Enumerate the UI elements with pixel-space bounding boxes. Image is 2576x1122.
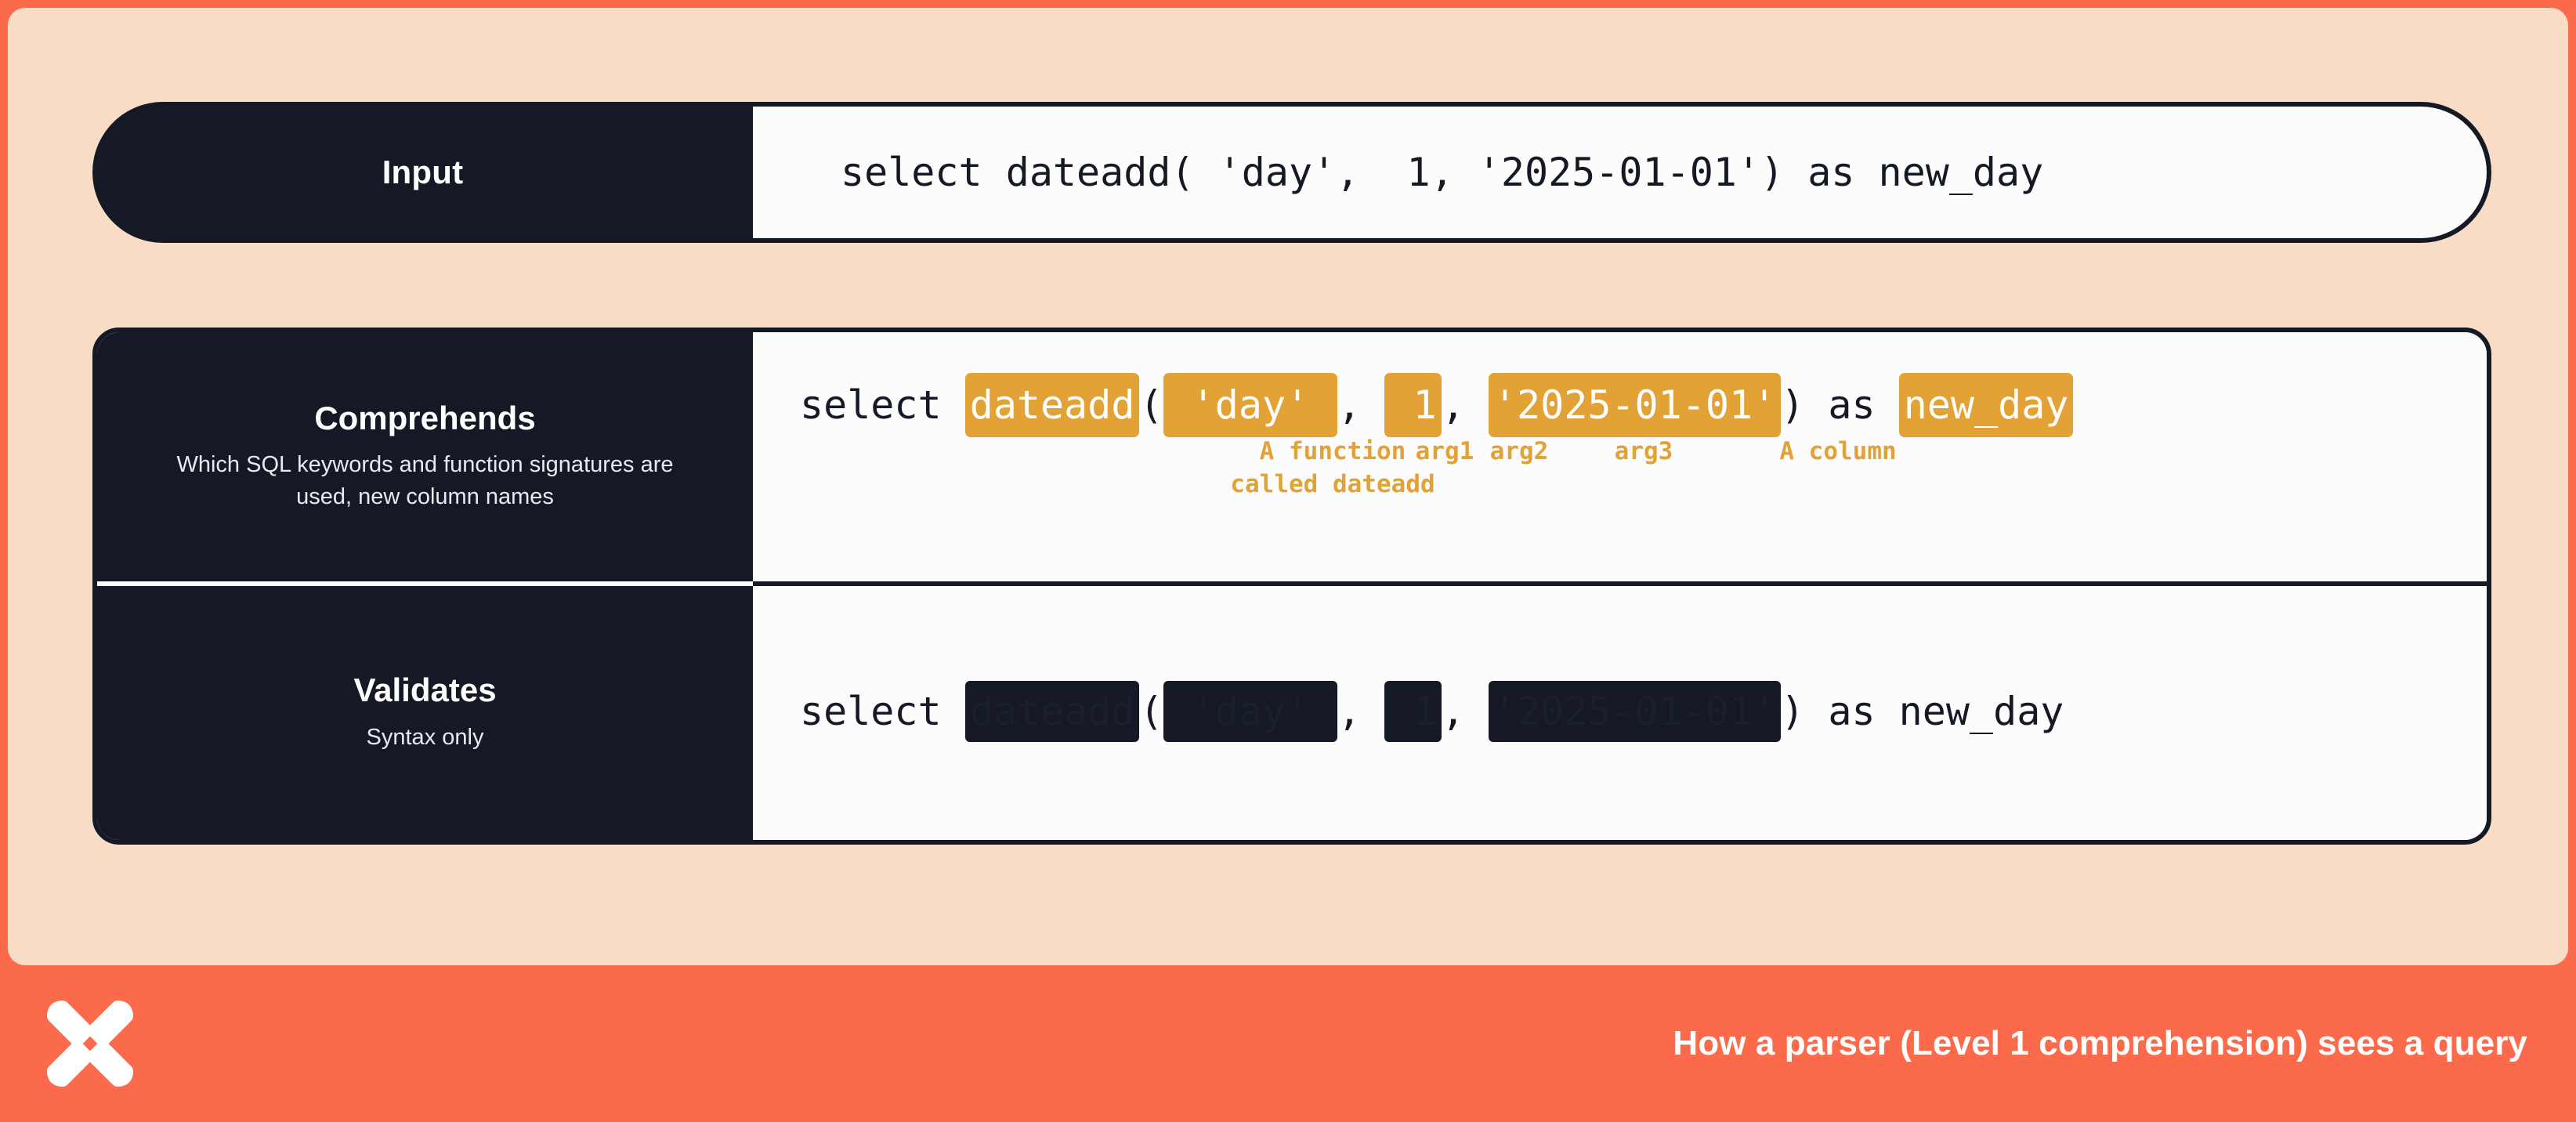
comprehends-label-cell: Comprehends Which SQL keywords and funct…	[97, 332, 753, 581]
comprehends-title: Comprehends	[314, 400, 535, 436]
peach-panel: Input select dateadd( 'day', 1, '2025-01…	[8, 8, 2568, 965]
x-mark-logo	[47, 1001, 133, 1087]
annotation-4: A column	[1779, 436, 1896, 469]
validates-token-8: )	[1781, 689, 1804, 734]
annotation-3: arg3	[1615, 436, 1673, 469]
input-row: Input select dateadd( 'day', 1, '2025-01…	[92, 102, 2491, 243]
footer-caption: How a parser (Level 1 comprehension) see…	[1673, 1024, 2527, 1063]
validates-code-cell: select dateadd( 'day' , 1, '2025-01-01')…	[753, 586, 2487, 840]
comprehends-token-2: (	[1139, 382, 1163, 428]
comprehends-token-0: select	[800, 382, 965, 428]
comprehends-code-stack: select dateadd( 'day' , 1, '2025-01-01')…	[800, 385, 2487, 528]
validates-code-stack: select dateadd( 'day' , 1, '2025-01-01')…	[800, 692, 2487, 734]
annotation-2: arg2	[1490, 436, 1549, 469]
validates-token-6: ,	[1442, 689, 1489, 734]
comprehends-code-cell: select dateadd( 'day' , 1, '2025-01-01')…	[753, 332, 2487, 581]
comprehends-subtitle: Which SQL keywords and function signatur…	[151, 449, 700, 513]
validates-title: Validates	[353, 672, 496, 708]
footer-bar: How a parser (Level 1 comprehension) see…	[0, 965, 2576, 1122]
validates-token-5: 1	[1384, 681, 1441, 742]
validates-label-cell: Validates Syntax only	[97, 586, 753, 840]
annotation-1: arg1	[1416, 436, 1474, 469]
validates-token-1: dateadd	[965, 681, 1140, 742]
comprehends-token-5: 1	[1384, 373, 1441, 437]
comprehends-token-3: 'day'	[1163, 373, 1338, 437]
annotation-0: A function called dateadd	[1230, 436, 1435, 501]
input-row-title: Input	[382, 156, 464, 189]
comprehends-token-6: ,	[1442, 382, 1489, 428]
comprehends-token-9: as	[1804, 382, 1898, 428]
comprehends-token-8: )	[1781, 382, 1804, 428]
input-row-code-cell: select dateadd( 'day', 1, '2025-01-01') …	[753, 102, 2491, 243]
validates-subtitle: Syntax only	[367, 722, 484, 754]
comprehends-code-line: select dateadd( 'day' , 1, '2025-01-01')…	[800, 385, 2487, 425]
comprehends-annotation-row: A function called dateaddarg1arg2arg3A c…	[847, 436, 2487, 528]
validates-code-line: select dateadd( 'day' , 1, '2025-01-01')…	[800, 692, 2487, 731]
input-row-label-cell: Input	[92, 102, 753, 243]
infographic-canvas: Input select dateadd( 'day', 1, '2025-01…	[0, 0, 2576, 1122]
validates-token-9: as new_day	[1804, 689, 2064, 734]
comprehends-token-7: '2025-01-01'	[1489, 373, 1781, 437]
comprehends-token-4: ,	[1337, 382, 1384, 428]
comprehends-row: Comprehends Which SQL keywords and funct…	[97, 332, 2487, 581]
input-code-line: select dateadd( 'day', 1, '2025-01-01') …	[841, 153, 2043, 192]
comprehends-token-1: dateadd	[965, 373, 1140, 437]
validates-token-0: select	[800, 689, 965, 734]
analysis-card: Comprehends Which SQL keywords and funct…	[92, 328, 2491, 845]
validates-token-7: '2025-01-01'	[1489, 681, 1781, 742]
validates-token-2: (	[1139, 689, 1163, 734]
validates-row: Validates Syntax only select dateadd( 'd…	[97, 586, 2487, 840]
validates-token-3: 'day'	[1163, 681, 1338, 742]
comprehends-token-10: new_day	[1899, 373, 2074, 437]
validates-token-4: ,	[1337, 689, 1384, 734]
